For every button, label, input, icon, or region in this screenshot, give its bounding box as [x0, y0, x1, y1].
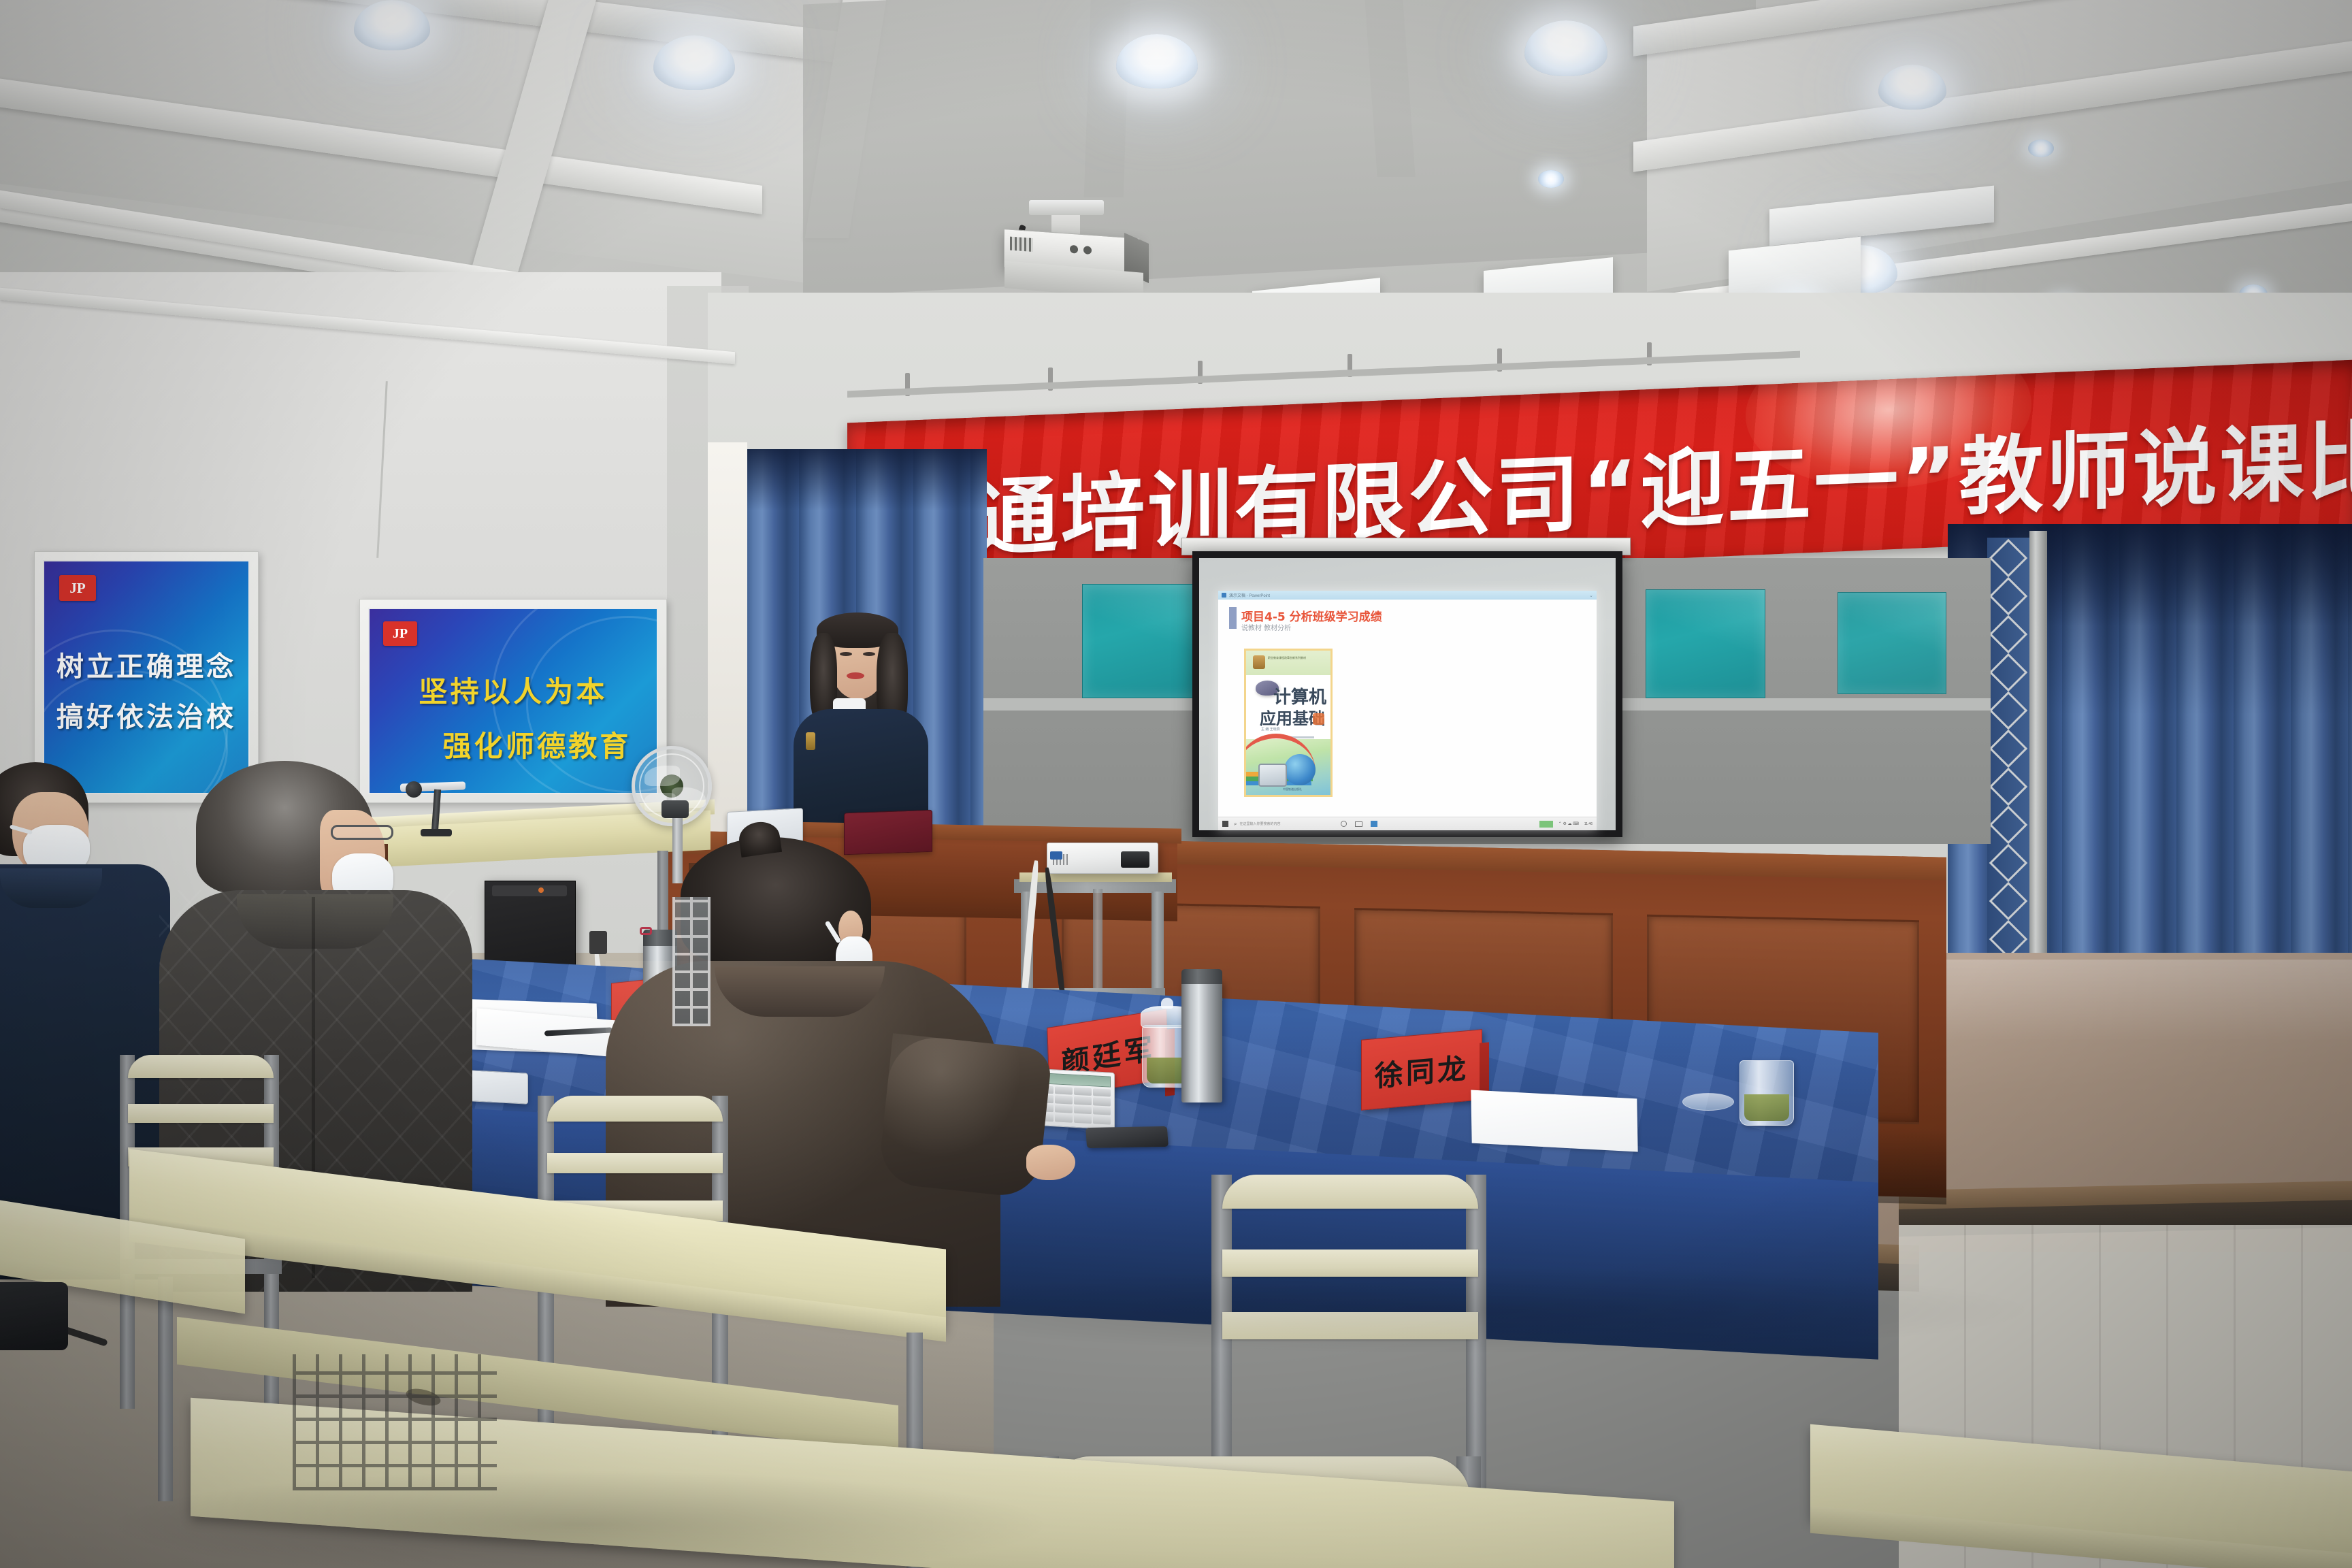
wall-poster-1-line2: 搞好依法治校 — [44, 695, 248, 734]
jp-logo-j-2: JP — [383, 621, 417, 646]
judge-person-jacket-collar — [715, 966, 885, 1017]
tea-cup-lid-right — [1682, 1093, 1734, 1111]
projector-port-2 — [1083, 246, 1092, 255]
judge-placard-3-name: 徐同龙 — [1375, 1045, 1469, 1094]
presenter-badge-icon — [806, 732, 815, 750]
shadow-stage — [885, 1266, 2042, 1354]
teal-panel-right — [1646, 589, 1765, 698]
steel-tumbler — [1181, 980, 1222, 1102]
textbook-subtitle: 主 编 王晓燕 — [1261, 727, 1280, 732]
judge-paper-3[interactable] — [1471, 1090, 1637, 1152]
presenter-lips — [847, 672, 864, 679]
textbook-emblem-icon — [1253, 655, 1265, 669]
jp-logo-j: JP — [59, 575, 96, 601]
textbook-cover-banner-text: 职业教育课程改革创新系列教材 — [1268, 656, 1330, 660]
slide-taskbar[interactable]: ⌕ 在这里输入你要搜索的内容 ⌃ ⚙ ☁ ⌨ 11:46 — [1218, 817, 1597, 830]
wall-poster-2-line1: 坚持以人为本 — [370, 669, 657, 710]
downlight-14 — [2028, 140, 2054, 157]
teal-panel-far-right — [1837, 592, 1946, 694]
front-table-1-leg-left — [158, 1277, 173, 1501]
wall-poster-1-inner: JP 树立正确理念 搞好依法治校 — [43, 560, 250, 794]
textbook-cover-image: 职业教育课程改革创新系列教材 计算机 应用基础 主 编 王晓燕 中国铁道出版社 — [1244, 649, 1333, 797]
pedestal-fan-hub-icon — [660, 774, 683, 798]
textbook-title-stamp-icon — [1313, 713, 1324, 725]
decorative-grille — [672, 897, 710, 1026]
judge-person-hand — [1026, 1145, 1075, 1180]
chair-2-slat-top — [547, 1096, 723, 1122]
projector-port — [1070, 245, 1078, 254]
ppt-app-icon — [1222, 593, 1226, 598]
fan-blade-1 — [644, 766, 680, 786]
projector-mount-plate — [1029, 200, 1104, 215]
taskbar-explorer-icon[interactable] — [1371, 821, 1377, 827]
projection-screen-frame: 演示文稿 - PowerPoint ⌄ 项目4-5 分析班级学习成绩 说教材 教… — [1192, 551, 1622, 837]
steel-tumbler-cap — [1181, 969, 1222, 984]
slide-window-title: 演示文稿 - PowerPoint — [1229, 592, 1270, 598]
chair-1-slat-mid — [128, 1104, 274, 1123]
slide-window-titlebar: 演示文稿 - PowerPoint ⌄ — [1218, 591, 1597, 600]
projection-screen-surface: 演示文稿 - PowerPoint ⌄ 项目4-5 分析班级学习成绩 说教材 教… — [1199, 558, 1616, 830]
smartphone[interactable] — [1085, 1126, 1169, 1148]
teal-panel-left — [1082, 584, 1202, 698]
jp-logo-icon-2: JP — [383, 621, 417, 646]
person-center-coat-collar — [237, 894, 393, 949]
textbook-cover-top-band: 职业教育课程改革创新系列教材 — [1246, 651, 1330, 675]
judge-person-arm — [877, 1033, 1053, 1198]
textbook-globe-icon — [1284, 754, 1316, 785]
glass-tea-cup-right — [1739, 1060, 1794, 1126]
projector-stool-board — [1019, 872, 1172, 882]
tea-leaves-right — [1744, 1094, 1789, 1121]
jp-logo-icon: JP — [59, 575, 96, 601]
taskbar-search-hint: 在这里输入你要搜索的内容 — [1239, 821, 1280, 826]
shadow-under-table — [102, 1470, 1055, 1568]
textbook-monitor-icon — [1258, 764, 1287, 787]
portable-projector-lens — [1121, 851, 1149, 868]
portable-projector — [1047, 843, 1158, 874]
presenter-eye-right — [863, 652, 875, 656]
fan-motor-housing — [661, 800, 689, 818]
taskbar-search-icon[interactable]: ⌕ — [1234, 821, 1237, 828]
conference-hall-photo: JP 树立正确理念 搞好依法治校 JP 坚持以人为本 强化师德教育 交通培训有限… — [0, 0, 2352, 1568]
speaker-control-panel[interactable] — [492, 885, 567, 896]
bag-on-floor — [0, 1282, 68, 1350]
chair-3-slat-top — [1222, 1175, 1478, 1209]
presenter-eye-left — [840, 652, 852, 656]
ceiling-recess-center — [803, 0, 1756, 297]
wall-poster-2-line2: 强化师德教育 — [370, 723, 657, 765]
chair-1-slat-top — [128, 1055, 274, 1078]
taskbar-taskview-icon[interactable] — [1355, 821, 1362, 827]
chair-2-slat-mid — [547, 1153, 723, 1173]
speaker-indicator-icon — [538, 887, 544, 893]
stage-post-right — [2029, 531, 2047, 1007]
portable-projector-connector[interactable] — [1050, 851, 1062, 860]
person-center-glasses-icon — [331, 825, 393, 840]
tray-icons[interactable]: ⌃ ⚙ ☁ ⌨ — [1558, 821, 1579, 826]
tray-highlight-icon[interactable] — [1539, 821, 1553, 828]
slide-title-accent-bar — [1229, 607, 1237, 629]
projector-vent — [1010, 237, 1033, 252]
slide-window-controls: ⌄ — [1589, 593, 1593, 598]
textbook-publisher: 中国铁道出版社 — [1283, 787, 1302, 791]
taskbar-clock: 11:46 — [1584, 822, 1592, 826]
taskbar-cortana-icon[interactable] — [1341, 821, 1347, 827]
wall-poster-1-line1: 树立正确理念 — [44, 644, 248, 684]
windows-start-icon[interactable] — [1222, 821, 1228, 827]
slide-subtitle: 说教材 教材分析 — [1241, 622, 1291, 632]
presentation-slide: 演示文稿 - PowerPoint ⌄ 项目4-5 分析班级学习成绩 说教材 教… — [1218, 591, 1597, 830]
tea-cup-knob-icon — [1161, 998, 1173, 1009]
lattice-column — [1987, 538, 2029, 1000]
person-left-jacket-collar — [0, 868, 102, 908]
downlight-13 — [1538, 170, 1564, 188]
judge-placard-3: 徐同龙 — [1361, 1029, 1482, 1111]
